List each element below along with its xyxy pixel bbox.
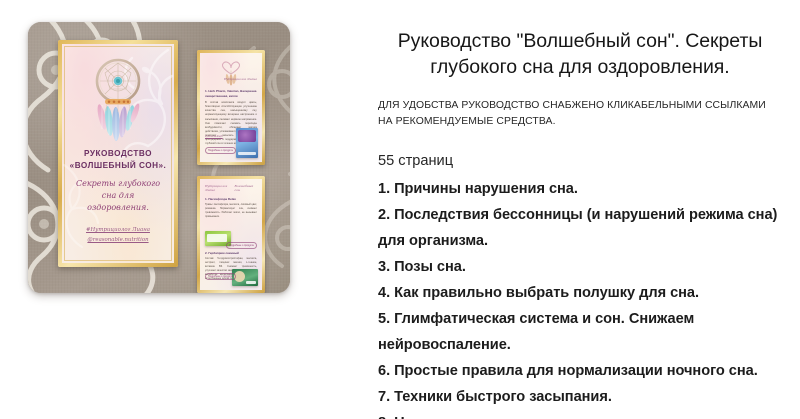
preview-bottom-item-1-body: Травы: пассифлора, мелисса, липовый цвет…	[205, 203, 257, 219]
preview-bottom-banner: Нутрициолог Лиана Волшебный сон	[205, 184, 257, 192]
cover-text-block: РУКОВОДСТВО «ВОЛШЕБНЫЙ СОН». Секреты глу…	[69, 148, 167, 245]
toc-item: 3. Позы сна.	[378, 255, 782, 281]
product-note: ДЛЯ УДОБСТВА РУКОВОДСТВО СНАБЖЕНО КЛИКАБ…	[378, 98, 782, 129]
toc-item: 1. Причины нарушения сна.	[378, 177, 782, 203]
dreamcatcher-heart-icon	[218, 57, 244, 87]
preview-page-bottom: Нутрициолог Лиана Волшебный сон 1. Пасси…	[197, 176, 265, 293]
table-of-contents: 1. Причины нарушения сна. 2. Последствия…	[378, 177, 782, 419]
preview-bottom-gold-frame: Нутрициолог Лиана Волшебный сон 1. Пасси…	[197, 176, 265, 293]
preview-bottom-item-2-title: 2. Гербаприм снежный	[205, 251, 257, 256]
product-details: Руководство "Волшебный сон". Секреты глу…	[378, 0, 782, 419]
cover-subtitle: Секреты глубокого сна для оздоровления.	[69, 178, 167, 214]
preview-top-heading: 1. Herb Pharm, Valerian, Валериана лекар…	[205, 89, 257, 98]
cover-gold-frame: РУКОВОДСТВО «ВОЛШЕБНЫЙ СОН». Секреты глу…	[58, 40, 178, 267]
preview-bottom-banner-right: Волшебный сон	[235, 184, 257, 192]
guide-cover: РУКОВОДСТВО «ВОЛШЕБНЫЙ СОН». Секреты глу…	[58, 40, 178, 267]
preview-top-author: Нутрициолог Лиана	[224, 77, 257, 81]
product-listing-page: РУКОВОДСТВО «ВОЛШЕБНЫЙ СОН». Секреты глу…	[0, 0, 800, 419]
cover-title: РУКОВОДСТВО «ВОЛШЕБНЫЙ СОН».	[69, 148, 167, 171]
page-count: 55 страниц	[378, 151, 782, 173]
product-title: Руководство "Волшебный сон". Секреты глу…	[378, 28, 782, 80]
dreamcatcher-icon	[85, 55, 151, 141]
preview-page-top: Нутрициолог Лиана 1. Herb Pharm, Valeria…	[197, 50, 265, 165]
preview-top-badge-wrap: Подробнее о продукте	[205, 138, 236, 156]
preview-top-gold-frame: Нутрициолог Лиана 1. Herb Pharm, Valeria…	[197, 50, 265, 165]
cover-inner: РУКОВОДСТВО «ВОЛШЕБНЫЙ СОН». Секреты глу…	[62, 44, 174, 263]
preview-bottom-item-1-title: 1. Пассифлора Relax	[205, 197, 257, 202]
preview-top-body: В состав комплекса входят цветы, благотв…	[205, 101, 257, 130]
preview-bottom-badge-1-wrap: Подробнее о продукте	[226, 233, 257, 251]
toc-item: 4. Как правильно выбрать полушку для сна…	[378, 281, 782, 307]
preview-bottom-badge-2-wrap: Подробнее о продукте	[205, 264, 236, 282]
preview-top-inner: Нутрициолог Лиана 1. Herb Pharm, Valeria…	[200, 53, 262, 162]
preview-bottom-item-1: 1. Пассифлора Relax Травы: пассифлора, м…	[205, 197, 257, 219]
preview-bottom-badge-1[interactable]: Подробнее о продукте	[226, 242, 257, 249]
toc-item: 2. Последствия бессонницы (и нарушений р…	[378, 203, 782, 255]
toc-item: 5. Глимфатическая система и сон. Снижаем…	[378, 307, 782, 359]
preview-top-badge[interactable]: Подробнее о продукте	[205, 147, 236, 154]
preview-bottom-inner: Нутрициолог Лиана Волшебный сон 1. Пасси…	[200, 179, 262, 290]
toc-item: 6. Простые правила для нормализации ночн…	[378, 359, 782, 385]
preview-bottom-badge-2[interactable]: Подробнее о продукте	[205, 273, 236, 280]
preview-bottom-banner-left: Нутрициолог Лиана	[205, 184, 235, 192]
toc-item: 7. Техники быстрого засыпания.	[378, 385, 782, 411]
preview-top-product-thumbnail	[236, 128, 258, 158]
toc-item: 8. Немедикаментозные средства восстановл…	[378, 411, 782, 419]
cover-author-handle: #Нутрициолог Лиана @reasonable.nutrition	[69, 226, 167, 245]
product-image[interactable]: РУКОВОДСТВО «ВОЛШЕБНЫЙ СОН». Секреты глу…	[28, 22, 290, 293]
product-image-card: РУКОВОДСТВО «ВОЛШЕБНЫЙ СОН». Секреты глу…	[28, 22, 290, 293]
